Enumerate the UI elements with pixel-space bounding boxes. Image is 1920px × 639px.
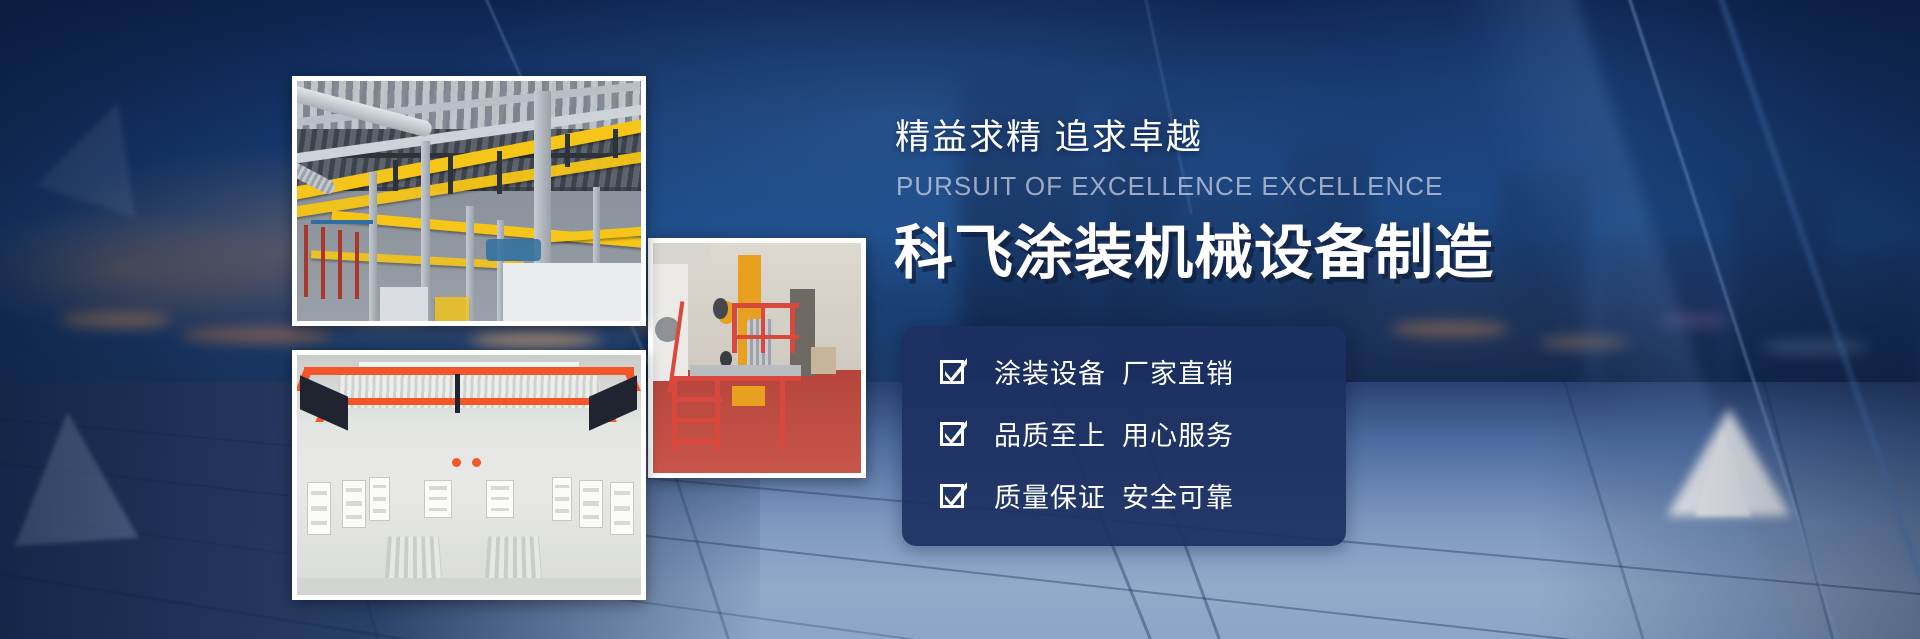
overhead-conveyor-line-photo bbox=[292, 76, 646, 326]
promo-banner: 精益求精 追求卓越 PURSUIT OF EXCELLENCE EXCELLEN… bbox=[0, 0, 1920, 639]
spray-booth-interior-photo bbox=[292, 350, 646, 600]
checkbox-checked-icon bbox=[940, 357, 969, 386]
feature-item: 质量保证安全可靠 bbox=[940, 476, 1234, 515]
slogan-chinese: 精益求精 追求卓越 bbox=[895, 120, 1203, 155]
checkbox-checked-icon bbox=[940, 481, 969, 510]
feature-label-left: 涂装设备 bbox=[994, 359, 1106, 389]
slogan-english: PURSUIT OF EXCELLENCE EXCELLENCE bbox=[896, 173, 1443, 199]
feature-label: 质量保证安全可靠 bbox=[994, 476, 1234, 515]
feature-label: 涂装设备厂家直销 bbox=[994, 352, 1234, 391]
feature-label-right: 安全可靠 bbox=[1122, 483, 1234, 513]
feature-label-right: 用心服务 bbox=[1122, 421, 1234, 451]
glowing-triangle-core bbox=[1695, 428, 1751, 516]
feature-label-left: 质量保证 bbox=[994, 483, 1106, 513]
translucent-triangle-bottom-left bbox=[6, 408, 139, 546]
feature-highlight-box: 涂装设备厂家直销 品质至上用心服务 质量保证安全可靠 bbox=[902, 326, 1346, 546]
feature-label: 品质至上用心服务 bbox=[994, 414, 1234, 453]
checkbox-checked-icon bbox=[940, 419, 969, 448]
feature-label-left: 品质至上 bbox=[994, 421, 1106, 451]
red-work-platform-photo bbox=[648, 238, 866, 478]
feature-item: 涂装设备厂家直销 bbox=[940, 352, 1234, 391]
feature-item: 品质至上用心服务 bbox=[940, 414, 1234, 453]
feature-label-right: 厂家直销 bbox=[1122, 359, 1234, 389]
page-title: 科飞涂装机械设备制造 bbox=[894, 222, 1494, 286]
